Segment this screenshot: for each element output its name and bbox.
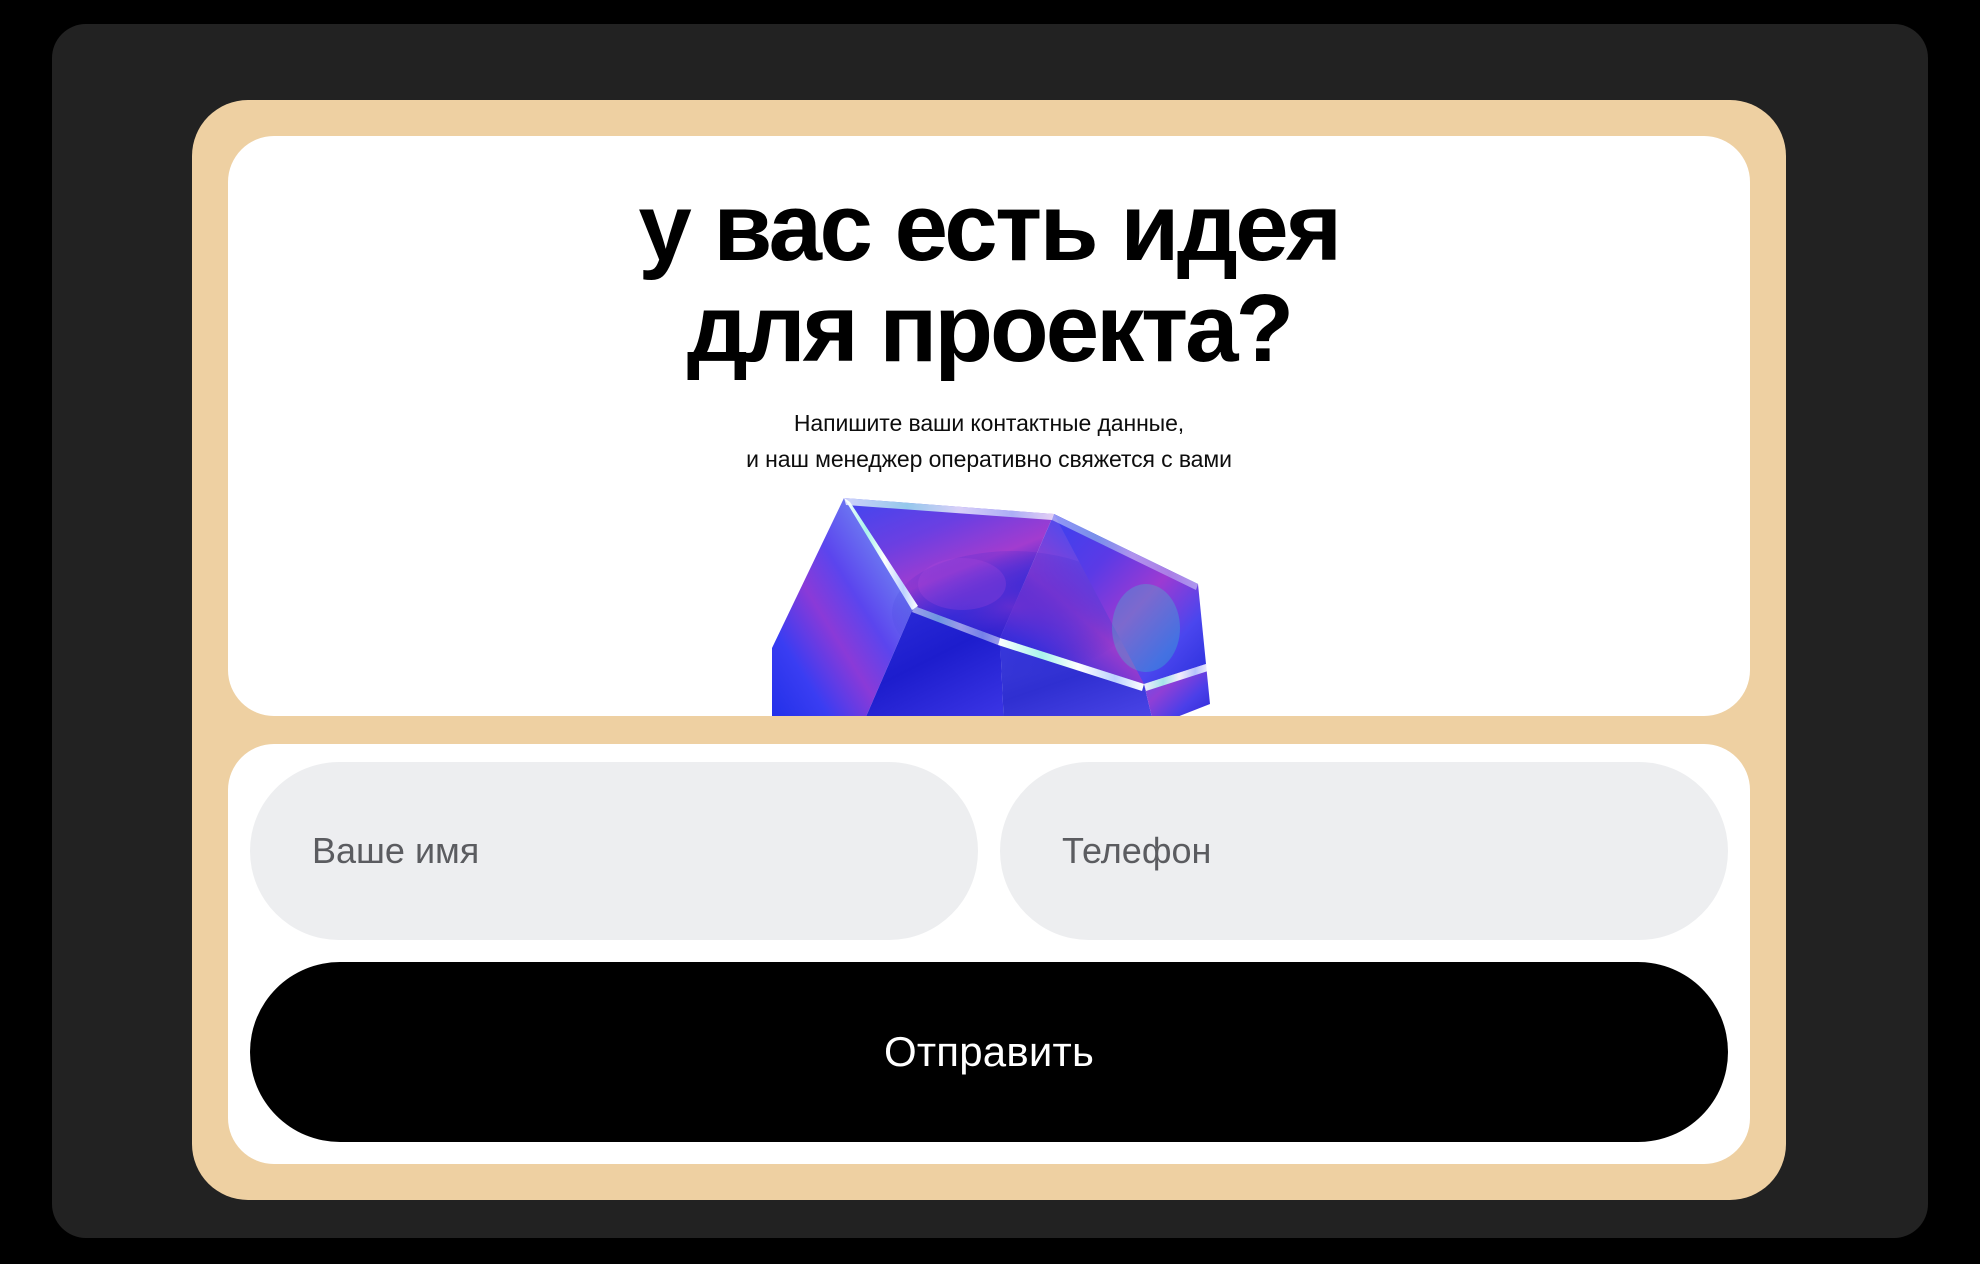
- page-subtitle: Напишите ваши контактные данные, и наш м…: [228, 406, 1750, 477]
- subtitle-line-1: Напишите ваши контактные данные,: [228, 406, 1750, 442]
- headline-line-2: для проекта?: [228, 279, 1750, 380]
- contact-form-card: Отправить: [228, 744, 1750, 1164]
- beige-frame: у вас есть идея для проекта? Напишите ва…: [192, 100, 1786, 1200]
- phone-input[interactable]: [1000, 762, 1728, 940]
- hero-inner: у вас есть идея для проекта? Напишите ва…: [228, 136, 1750, 716]
- hero-card: у вас есть идея для проекта? Напишите ва…: [228, 136, 1750, 716]
- app-panel: у вас есть идея для проекта? Напишите ва…: [52, 24, 1928, 1238]
- subtitle-line-2: и наш менеджер оперативно свяжется с вам…: [228, 442, 1750, 478]
- form-field-row: [250, 762, 1728, 940]
- headline-line-1: у вас есть идея: [228, 178, 1750, 279]
- page-title: у вас есть идея для проекта?: [228, 178, 1750, 380]
- iridescent-3d-cube-icon: [754, 488, 1224, 716]
- submit-button[interactable]: Отправить: [250, 962, 1728, 1142]
- name-input[interactable]: [250, 762, 978, 940]
